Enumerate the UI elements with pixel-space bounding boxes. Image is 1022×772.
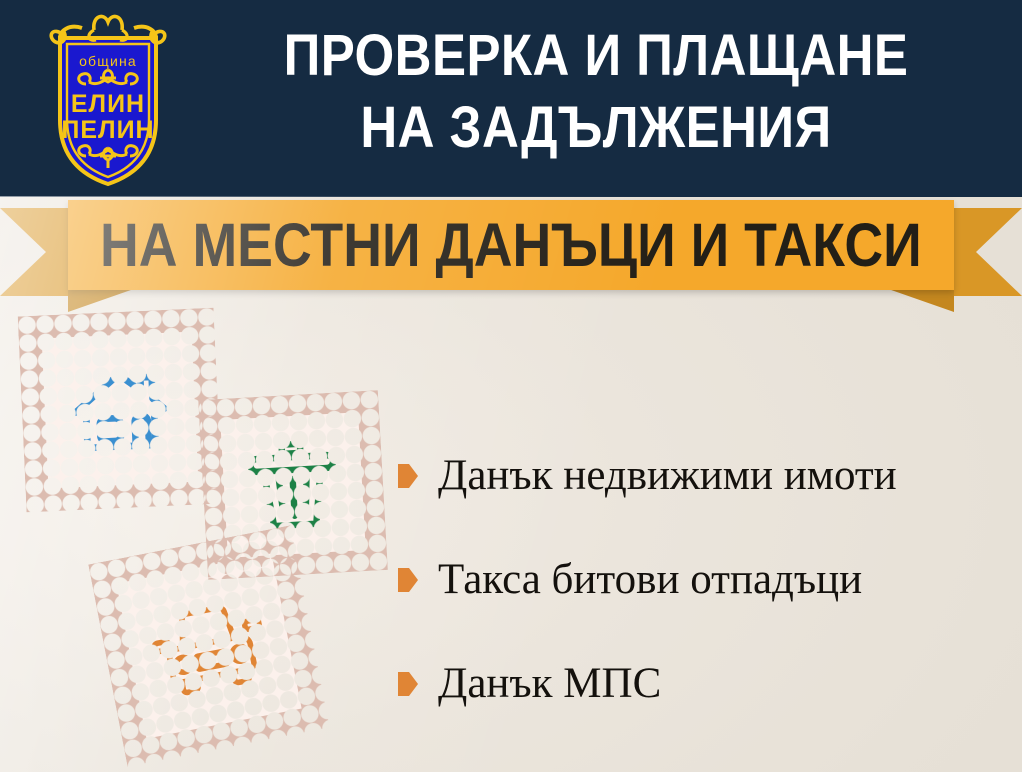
ribbon-main-panel: НА МЕСТНИ ДАНЪЦИ И ТАКСИ bbox=[68, 200, 954, 290]
house-icon bbox=[66, 360, 174, 460]
header-banner: община ЕЛИН ПЕЛИН bbox=[0, 0, 1022, 197]
arrow-right-marker-icon bbox=[398, 568, 418, 592]
list-item-label: Данък недвижими имоти bbox=[438, 452, 897, 500]
poster-title-line-2: НА ЗАДЪЛЖЕНИЯ bbox=[235, 92, 957, 164]
stamp-inner-vehicle bbox=[116, 553, 301, 738]
poster-title: ПРОВЕРКА И ПЛАЩАНЕ НА ЗАДЪЛЖЕНИЯ bbox=[235, 20, 957, 164]
arrow-right-marker-icon bbox=[398, 672, 418, 696]
list-item[interactable]: Данък МПС bbox=[398, 632, 1010, 736]
poster-root: община ЕЛИН ПЕЛИН bbox=[0, 0, 1022, 772]
trash-bin-icon bbox=[244, 432, 341, 538]
svg-text:ЕЛИН: ЕЛИН bbox=[71, 90, 145, 118]
list-item[interactable]: Такса битови отпадъци bbox=[398, 528, 1010, 632]
arrow-right-marker-icon bbox=[398, 464, 418, 488]
svg-text:ПЕЛИН: ПЕЛИН bbox=[61, 116, 154, 144]
stamp-inner-property bbox=[42, 332, 199, 489]
car-front-icon bbox=[145, 590, 273, 703]
tax-type-list: Данък недвижими имоти Такса битови отпад… bbox=[398, 424, 1010, 736]
ribbon-subtitle: НА МЕСТНИ ДАНЪЦИ И ТАКСИ bbox=[100, 214, 922, 276]
municipality-logo: община ЕЛИН ПЕЛИН bbox=[42, 8, 174, 190]
list-item[interactable]: Данък недвижими имоти bbox=[398, 424, 1010, 528]
list-item-label: Данък МПС bbox=[438, 660, 661, 708]
poster-title-line-1: ПРОВЕРКА И ПЛАЩАНЕ bbox=[235, 20, 957, 92]
svg-text:община: община bbox=[79, 53, 137, 69]
ribbon-banner: НА МЕСТНИ ДАНЪЦИ И ТАКСИ bbox=[0, 196, 1022, 312]
stamp-card-vehicle bbox=[88, 525, 330, 767]
stamp-card-property bbox=[18, 308, 223, 513]
list-item-label: Такса битови отпадъци bbox=[438, 556, 862, 604]
